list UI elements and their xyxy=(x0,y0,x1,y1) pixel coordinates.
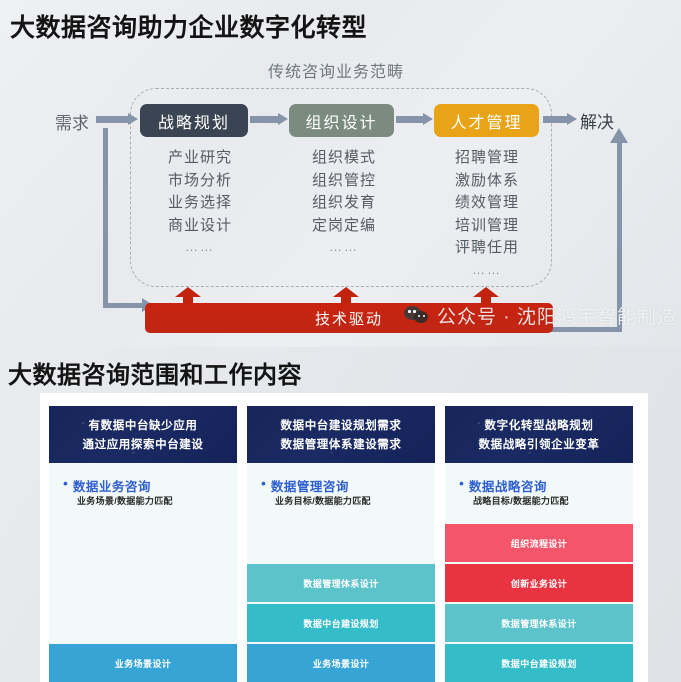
scope-block[interactable]: 创新业务设计 xyxy=(445,564,633,602)
scope-block[interactable]: 组织流程设计 xyxy=(445,524,633,562)
section-consulting-transformation: 大数据咨询助力企业数字化转型 传统咨询业务范畴 需求 战略规划 组织设计 人才管… xyxy=(0,0,681,347)
section1-title: 大数据咨询助力企业数字化转型 xyxy=(10,8,367,44)
solution-path-horizontal xyxy=(546,327,622,332)
list-item: 激励体系 xyxy=(427,170,547,193)
list-item: 组织模式 xyxy=(284,147,404,170)
scope-block[interactable]: 数据管理体系设计 xyxy=(445,604,633,642)
card-header-line1: 数字化转型战略规划 xyxy=(485,417,594,433)
card-header: 数据中台建设规划需求 数据管理体系建设需求 xyxy=(247,406,435,463)
section2-title: 大数据咨询范围和工作内容 xyxy=(8,355,302,390)
tech-up-arrow-icon xyxy=(473,287,499,303)
card-bullet: • 数据战略咨询 xyxy=(459,476,547,495)
list-item: 招聘管理 xyxy=(427,147,547,170)
list-ellipsis: …… xyxy=(284,237,404,257)
card-header: 数字化转型战略规划 数据战略引领企业变革 xyxy=(445,406,633,463)
card-subtext: 战略目标/数据能力匹配 xyxy=(473,494,569,507)
input-label: 需求 xyxy=(55,109,89,134)
demand-path-vertical xyxy=(103,128,108,308)
scope-card-management[interactable]: 数据中台建设规划需求 数据管理体系建设需求 • 数据管理咨询 业务目标/数据能力… xyxy=(247,406,435,682)
arrow-demand-to-stage1 xyxy=(96,113,138,126)
tech-up-arrow-icon xyxy=(175,287,201,303)
bullet-dot-icon: • xyxy=(63,476,68,490)
list-item: 组织管控 xyxy=(284,170,404,193)
card-subtext: 业务场景/数据能力匹配 xyxy=(77,494,173,507)
scope-card-strategy[interactable]: 数字化转型战略规划 数据战略引领企业变革 • 数据战略咨询 战略目标/数据能力匹… xyxy=(445,406,633,682)
solution-path-vertical xyxy=(617,142,622,332)
card-header-line2: 通过应用探索中台建设 xyxy=(83,436,204,452)
traditional-scope-label: 传统咨询业务范畴 xyxy=(268,58,404,82)
bullet-dot-icon: • xyxy=(459,476,464,490)
scope-block[interactable]: 数据中台建设规划 xyxy=(247,604,435,642)
slide-deck-page: 大数据咨询助力企业数字化转型 传统咨询业务范畴 需求 战略规划 组织设计 人才管… xyxy=(0,0,681,682)
card-subtext: 业务目标/数据能力匹配 xyxy=(275,494,371,507)
stage1-item-list: 产业研究 市场分析 业务选择 商业设计 …… xyxy=(140,147,260,257)
solution-path-arrowhead-icon xyxy=(610,128,628,143)
list-ellipsis: …… xyxy=(427,260,547,280)
list-item: 组织发育 xyxy=(284,192,404,215)
card-header-line2: 数据战略引领企业变革 xyxy=(479,436,600,452)
scope-block[interactable]: 数据管理体系设计 xyxy=(247,564,435,602)
demand-path-horizontal xyxy=(103,303,145,308)
scope-block[interactable]: 业务场景设计 xyxy=(49,644,237,682)
stage2-item-list: 组织模式 组织管控 组织发育 定岗定编 …… xyxy=(284,147,404,257)
section-consulting-scope: 大数据咨询范围和工作内容 有数据中台缺少应用 通过应用探索中台建设 • 数据业务… xyxy=(0,347,681,682)
list-item: 市场分析 xyxy=(140,170,260,193)
list-ellipsis: …… xyxy=(140,237,260,257)
scope-block[interactable]: 业务场景设计 xyxy=(247,644,435,682)
card-bullet: • 数据管理咨询 xyxy=(261,476,349,495)
stage-box-talent[interactable]: 人才管理 xyxy=(434,104,539,137)
list-item: 培训管理 xyxy=(427,215,547,238)
card-bullet: • 数据业务咨询 xyxy=(63,476,151,495)
tech-driver-bar: 技术驱动 xyxy=(145,303,553,333)
arrow-stage3-to-solution xyxy=(543,113,577,126)
card-bullet-label: 数据业务咨询 xyxy=(73,476,151,495)
card-header-line1: 有数据中台缺少应用 xyxy=(89,417,198,433)
card-header: 有数据中台缺少应用 通过应用探索中台建设 xyxy=(49,406,237,463)
list-item: 定岗定编 xyxy=(284,215,404,238)
stage-box-organization[interactable]: 组织设计 xyxy=(289,104,394,137)
bullet-dot-icon: • xyxy=(261,476,266,490)
card-bullet-label: 数据战略咨询 xyxy=(469,476,547,495)
card-header-line1: 数据中台建设规划需求 xyxy=(281,417,402,433)
list-item: 绩效管理 xyxy=(427,192,547,215)
stage3-item-list: 招聘管理 激励体系 绩效管理 培训管理 评聘任用 …… xyxy=(427,147,547,280)
card-header-line2: 数据管理体系建设需求 xyxy=(281,436,402,452)
list-item: 业务选择 xyxy=(140,192,260,215)
arrow-stage1-to-stage2 xyxy=(250,113,288,126)
output-label: 解决 xyxy=(580,108,614,133)
stage-box-strategy[interactable]: 战略规划 xyxy=(140,104,248,137)
tech-up-arrow-icon xyxy=(333,287,359,303)
card-bullet-label: 数据管理咨询 xyxy=(271,476,349,495)
list-item: 产业研究 xyxy=(140,147,260,170)
arrow-stage2-to-stage3 xyxy=(396,113,433,126)
scope-card-business[interactable]: 有数据中台缺少应用 通过应用探索中台建设 • 数据业务咨询 业务场景/数据能力匹… xyxy=(49,406,237,682)
scope-block[interactable]: 数据中台建设规划 xyxy=(445,644,633,682)
list-item: 评聘任用 xyxy=(427,237,547,260)
list-item: 商业设计 xyxy=(140,215,260,238)
